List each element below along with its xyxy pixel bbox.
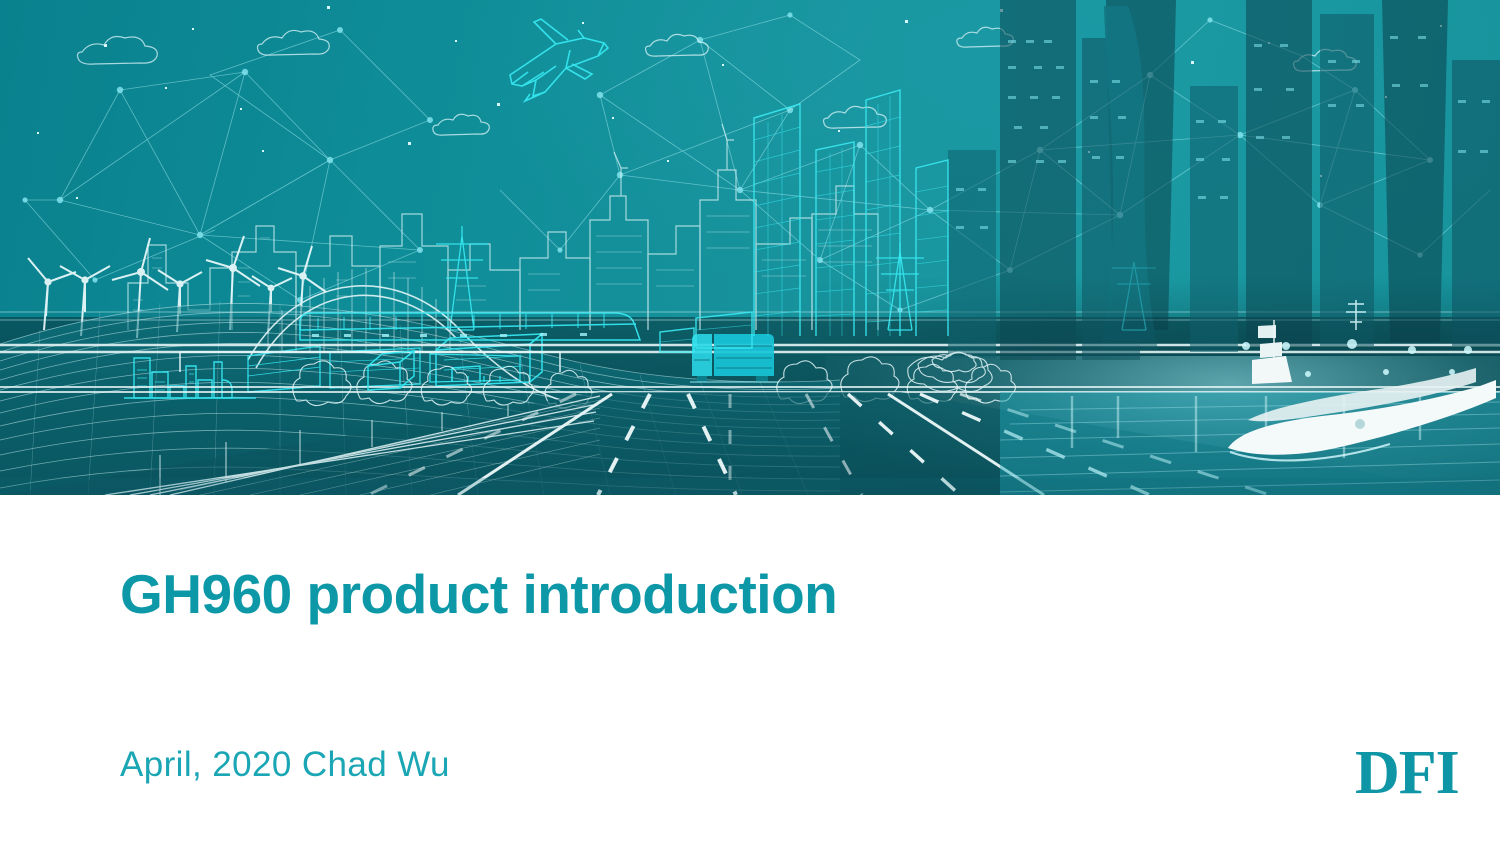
wireframe-towers xyxy=(660,90,948,352)
hero-illustration xyxy=(0,0,1500,495)
slide-subtitle: April, 2020 Chad Wu xyxy=(120,747,450,782)
hero-banner xyxy=(0,0,1500,495)
contour-map-doodle xyxy=(908,352,992,391)
slide-text-area: GH960 product introduction April, 2020 C… xyxy=(0,495,1500,844)
page-title: GH960 product introduction xyxy=(120,567,837,622)
presentation-slide: GH960 product introduction April, 2020 C… xyxy=(0,0,1500,844)
truck-vehicle xyxy=(690,334,778,382)
photo-skyscrapers xyxy=(948,0,1500,360)
dfi-logo: DFI xyxy=(1355,742,1459,804)
skyline-outline-far xyxy=(128,124,878,330)
airplane-icon xyxy=(510,19,608,101)
